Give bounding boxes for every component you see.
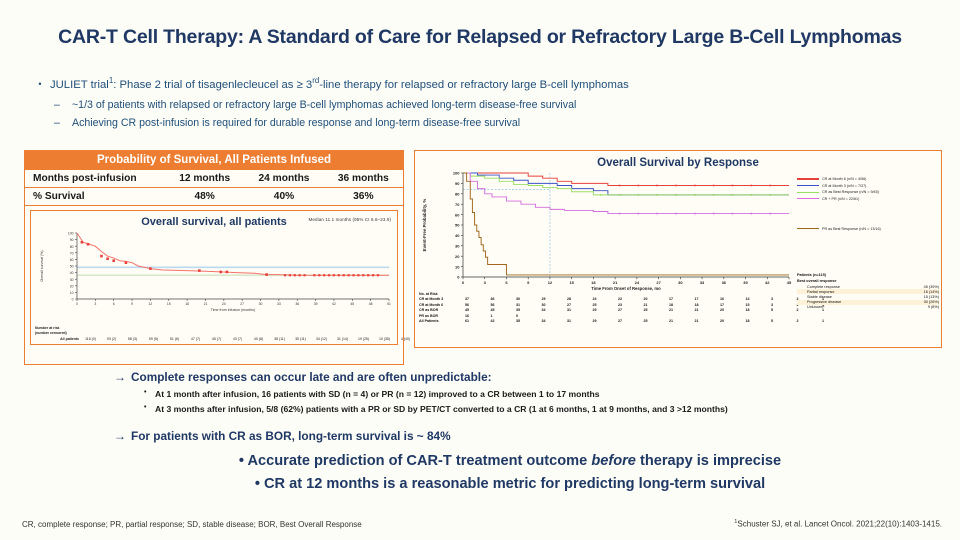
svg-text:39: 39	[314, 302, 318, 306]
left-panel-header: Probability of Survival, All Patients In…	[25, 151, 403, 170]
bullet-marker: •	[144, 403, 155, 415]
risk-value: 10 (35)	[375, 337, 394, 342]
risk-value: 31 (14)	[333, 337, 352, 342]
bor-label: Partial response	[807, 290, 834, 294]
at-risk-value: 35	[516, 319, 542, 324]
legend-label: CR as Best Response (n/N = 9/45)	[822, 190, 879, 194]
svg-text:36: 36	[295, 302, 299, 306]
svg-text:27: 27	[240, 302, 244, 306]
risk-row-label: All patients	[35, 337, 79, 342]
svg-text:36: 36	[722, 280, 727, 285]
bullet-marker: •	[255, 476, 260, 492]
patients-count: Patients (n=115)	[797, 273, 939, 277]
svg-text:50: 50	[455, 223, 460, 228]
risk-value: 19 (25)	[354, 337, 373, 342]
risk-value: 58 (3)	[123, 337, 142, 342]
slide-root: CAR-T Cell Therapy: A Standard of Care f…	[0, 0, 960, 540]
conclusion-2-text: For patients with CR as BOR, long-term s…	[131, 429, 451, 445]
at-risk-value: 31	[567, 319, 593, 324]
survival-24: 40%	[244, 188, 323, 206]
svg-text:40: 40	[455, 233, 460, 238]
at-risk-value: 34	[542, 308, 568, 313]
risk-header-2: (number censored)	[35, 331, 395, 336]
svg-text:Event-Free Probability, %: Event-Free Probability, %	[422, 199, 427, 252]
svg-text:30: 30	[455, 244, 460, 249]
svg-text:50: 50	[70, 265, 74, 269]
risk-value: 93 (2)	[102, 337, 121, 342]
at-risk-value: 5	[771, 308, 797, 313]
svg-text:15: 15	[569, 280, 574, 285]
risk-value: 38 (11)	[270, 337, 289, 342]
at-risk-row: All Patients614235343129272521212018521	[419, 319, 848, 324]
legend-item: CR at Month 6 (n/N = 4/56)	[797, 177, 941, 181]
svg-text:48: 48	[369, 302, 373, 306]
svg-text:0: 0	[72, 298, 74, 302]
page-title: CAR-T Cell Therapy: A Standard of Care f…	[0, 26, 960, 49]
svg-text:20: 20	[70, 284, 74, 288]
legend-item: CR as Best Response (n/N = 9/45)	[797, 190, 941, 194]
svg-text:80: 80	[455, 192, 460, 197]
risk-value: 34 (12)	[312, 337, 331, 342]
conclusion-1-sub-1-text: At 1 month after infusion, 16 patients w…	[155, 388, 600, 400]
legend-swatch	[797, 185, 819, 186]
footer-abbreviations: CR, complete response; PR, partial respo…	[22, 520, 362, 529]
conclusion-2: → For patients with CR as BOR, long-term…	[114, 429, 954, 445]
arrow-icon: →	[114, 370, 131, 386]
svg-text:0: 0	[76, 302, 78, 306]
conclusion-1-sub-2: • At 3 months after infusion, 5/8 (62%) …	[144, 403, 954, 415]
citation-text: Schuster SJ, et al. Lancet Oncol. 2021;2…	[737, 520, 942, 529]
table-row: Months post-infusion 12 months 24 months…	[25, 170, 403, 188]
legend-label: CR at Month 6 (n/N = 4/56)	[822, 177, 866, 181]
bullet-main-text: JULIET trial1: Phase 2 trial of tisagenl…	[50, 76, 629, 93]
bor-value: 15 (13%)	[924, 295, 939, 299]
col-24-months: 24 months	[244, 170, 323, 188]
km-risk-table: Number at risk (number censored) All pat…	[35, 326, 395, 342]
bullet-sub-2: – Achieving CR post-infusion is required…	[30, 116, 940, 130]
at-risk-value: 34	[542, 319, 568, 324]
legend-swatch	[797, 178, 819, 179]
table-row: % Survival 48% 40% 36%	[25, 188, 403, 206]
at-risk-value: 18	[746, 319, 772, 324]
right-panel: Overall Survival by Response 01020304050…	[414, 150, 942, 348]
bor-heading: Best overall response	[797, 279, 939, 283]
bullet-sub-2-text: Achieving CR post-infusion is required f…	[72, 116, 520, 130]
percent-survival-label: % Survival	[25, 188, 165, 206]
bullet-marker: •	[239, 453, 244, 469]
at-risk-value: 29	[593, 319, 619, 324]
at-risk-value: 61	[465, 319, 491, 324]
conclusion-block-2: → For patients with CR as BOR, long-term…	[114, 429, 954, 445]
svg-text:12: 12	[149, 302, 153, 306]
svg-text:100: 100	[453, 171, 460, 176]
legend-swatch	[797, 228, 819, 229]
risk-value: 43 (7)	[228, 337, 247, 342]
svg-text:45: 45	[787, 280, 792, 285]
best-overall-response-table: Patients (n=115) Best overall response C…	[797, 273, 939, 310]
survival-12: 48%	[165, 188, 244, 206]
col-12-months: 12 months	[165, 170, 244, 188]
risk-value: 59 (5)	[144, 337, 163, 342]
svg-text:9: 9	[131, 302, 133, 306]
legend-label: CR at Month 3 (n/N = 7/37)	[822, 184, 866, 188]
svg-text:90: 90	[455, 181, 460, 186]
at-risk-value: 25	[644, 308, 670, 313]
bullet-marker: •	[30, 76, 50, 93]
svg-text:6: 6	[113, 302, 115, 306]
dash-marker: –	[54, 116, 72, 130]
svg-text:24: 24	[222, 302, 226, 306]
takeaway-1-pre: Accurate prediction of CAR-T treatment o…	[248, 453, 592, 469]
svg-text:45: 45	[350, 302, 354, 306]
col-36-months: 36 months	[324, 170, 403, 188]
os-by-response-svg: 0102030405060708090100036912151821242730…	[415, 151, 795, 301]
svg-text:42: 42	[332, 302, 336, 306]
at-risk-row-label: All Patients	[419, 319, 465, 324]
bullet-marker: •	[144, 388, 155, 400]
at-risk-value: 27	[618, 308, 644, 313]
bullet-main: • JULIET trial1: Phase 2 trial of tisage…	[30, 76, 940, 93]
svg-text:30: 30	[678, 280, 683, 285]
legend-label: CR + PR (n/N = 22/61)	[822, 197, 859, 201]
takeaway-1-post: therapy is imprecise	[636, 453, 781, 469]
at-risk-value: 25	[644, 319, 670, 324]
bullet-sub-1: – ~1/3 of patients with relapsed or refr…	[30, 98, 940, 112]
survival-probability-table: Months post-infusion 12 months 24 months…	[25, 170, 403, 206]
svg-text:3: 3	[484, 280, 487, 285]
svg-text:70: 70	[70, 251, 74, 255]
at-risk-value: 21	[669, 319, 695, 324]
svg-text:20: 20	[455, 254, 460, 259]
survival-36: 36%	[324, 188, 403, 206]
at-risk-rows: CR at Month 3373630292824222017171614321…	[419, 297, 848, 324]
legend-swatch	[797, 192, 819, 193]
svg-text:18: 18	[591, 280, 596, 285]
conclusion-1-text: Complete responses can occur late and ar…	[131, 370, 492, 386]
bor-value: 16 (14%)	[924, 290, 939, 294]
svg-text:80: 80	[70, 245, 74, 249]
chart-legend: CR at Month 6 (n/N = 4/56)CR at Month 3 …	[797, 177, 941, 233]
bor-label: Progressive disease	[807, 300, 841, 304]
at-risk-value: 18	[746, 308, 772, 313]
at-risk-value: 1	[822, 319, 848, 324]
conclusion-block-1: → Complete responses can occur late and …	[114, 370, 954, 416]
bor-label: Unknownᵃ	[807, 305, 824, 309]
bor-label: Complete response	[807, 285, 840, 289]
at-risk-value: 20	[720, 308, 746, 313]
dash-marker: –	[54, 98, 72, 112]
legend-item: PR as Best Response (n/N = 13/16)	[797, 227, 941, 231]
at-risk-value: 27	[618, 319, 644, 324]
svg-text:42: 42	[765, 280, 770, 285]
legend-label: PR as Best Response (n/N = 13/16)	[822, 227, 881, 231]
svg-text:10: 10	[70, 291, 74, 295]
bor-row: Unknownᵃ9 (8%)	[797, 305, 939, 310]
takeaway-1: • Accurate prediction of CAR-T treatment…	[110, 450, 910, 473]
legend-swatch	[797, 198, 819, 199]
svg-text:21: 21	[204, 302, 208, 306]
bullet-sub-1-text: ~1/3 of patients with relapsed or refrac…	[72, 98, 576, 112]
bor-label: Stable disease	[807, 295, 832, 299]
conclusion-1: → Complete responses can occur late and …	[114, 370, 954, 386]
svg-text:33: 33	[277, 302, 281, 306]
risk-row-all-patients: All patients 115 (0)93 (2)58 (3)59 (5)51…	[35, 337, 395, 342]
svg-text:3: 3	[94, 302, 96, 306]
legend-item: CR at Month 3 (n/N = 7/37)	[797, 184, 941, 188]
svg-text:30: 30	[259, 302, 263, 306]
svg-text:18: 18	[185, 302, 189, 306]
svg-text:100: 100	[68, 232, 74, 236]
risk-value: 47 (7)	[186, 337, 205, 342]
bullet-list: • JULIET trial1: Phase 2 trial of tisage…	[30, 76, 940, 135]
at-risk-value: 42	[491, 319, 517, 324]
at-risk-value: 2	[797, 319, 823, 324]
at-risk-table: No. at Risk CR at Month 3373630292824222…	[419, 292, 848, 324]
svg-text:24: 24	[635, 280, 640, 285]
svg-text:6: 6	[505, 280, 508, 285]
bor-value: 30 (26%)	[924, 300, 939, 304]
risk-value: 45 (7)	[207, 337, 226, 342]
arrow-icon: →	[114, 429, 131, 445]
svg-text:9: 9	[527, 280, 530, 285]
takeaway-2-text: CR at 12 months is a reasonable metric f…	[264, 476, 765, 492]
bor-value: 9 (8%)	[928, 305, 939, 309]
risk-value: 35 (11)	[291, 337, 310, 342]
svg-text:40: 40	[70, 271, 74, 275]
bor-value: 45 (39%)	[924, 285, 939, 289]
at-risk-value: 5	[771, 319, 797, 324]
risk-value: 4 (40)	[396, 337, 415, 342]
svg-text:30: 30	[70, 278, 74, 282]
takeaway-2: • CR at 12 months is a reasonable metric…	[110, 473, 910, 496]
svg-text:0: 0	[457, 275, 460, 280]
svg-text:21: 21	[613, 280, 618, 285]
months-post-infusion-label: Months post-infusion	[25, 170, 165, 188]
at-risk-value: 31	[567, 308, 593, 313]
at-risk-value: 21	[695, 308, 721, 313]
bor-rows: Complete response45 (39%)Partial respons…	[797, 284, 939, 310]
at-risk-value: 20	[720, 319, 746, 324]
at-risk-value: 21	[695, 319, 721, 324]
svg-text:27: 27	[656, 280, 661, 285]
conclusion-1-sub-2-text: At 3 months after infusion, 5/8 (62%) pa…	[155, 403, 728, 415]
svg-text:70: 70	[455, 202, 460, 207]
risk-value: 115 (0)	[81, 337, 100, 342]
svg-text:51: 51	[387, 302, 391, 306]
svg-text:Time From Onset of Response, m: Time From Onset of Response, mo	[591, 286, 661, 291]
svg-text:Time from infusion (months): Time from infusion (months)	[211, 308, 256, 312]
svg-text:12: 12	[548, 280, 553, 285]
svg-text:33: 33	[700, 280, 705, 285]
km-plot-svg: 0102030405060708090100036912151821242730…	[31, 211, 397, 321]
risk-value: 40 (8)	[249, 337, 268, 342]
svg-text:0: 0	[462, 280, 465, 285]
svg-text:60: 60	[70, 258, 74, 262]
key-takeaways: • Accurate prediction of CAR-T treatment…	[110, 450, 910, 497]
at-risk-value: 29	[593, 308, 619, 313]
at-risk-value: 21	[669, 308, 695, 313]
svg-text:Overall survival (%): Overall survival (%)	[40, 250, 44, 281]
risk-value: 51 (6)	[165, 337, 184, 342]
svg-text:60: 60	[455, 212, 460, 217]
conclusion-1-sub-1: • At 1 month after infusion, 16 patients…	[144, 388, 954, 400]
takeaway-1-emphasis: before	[591, 453, 636, 469]
svg-text:10: 10	[455, 264, 460, 269]
svg-text:90: 90	[70, 238, 74, 242]
svg-text:39: 39	[743, 280, 748, 285]
left-panel: Probability of Survival, All Patients In…	[24, 150, 404, 365]
footer-citation: 1Schuster SJ, et al. Lancet Oncol. 2021;…	[734, 519, 942, 529]
svg-text:15: 15	[167, 302, 171, 306]
legend-item: CR + PR (n/N = 22/61)	[797, 197, 941, 201]
km-chart-all-patients: Overall survival, all patients Median 11…	[30, 210, 398, 345]
